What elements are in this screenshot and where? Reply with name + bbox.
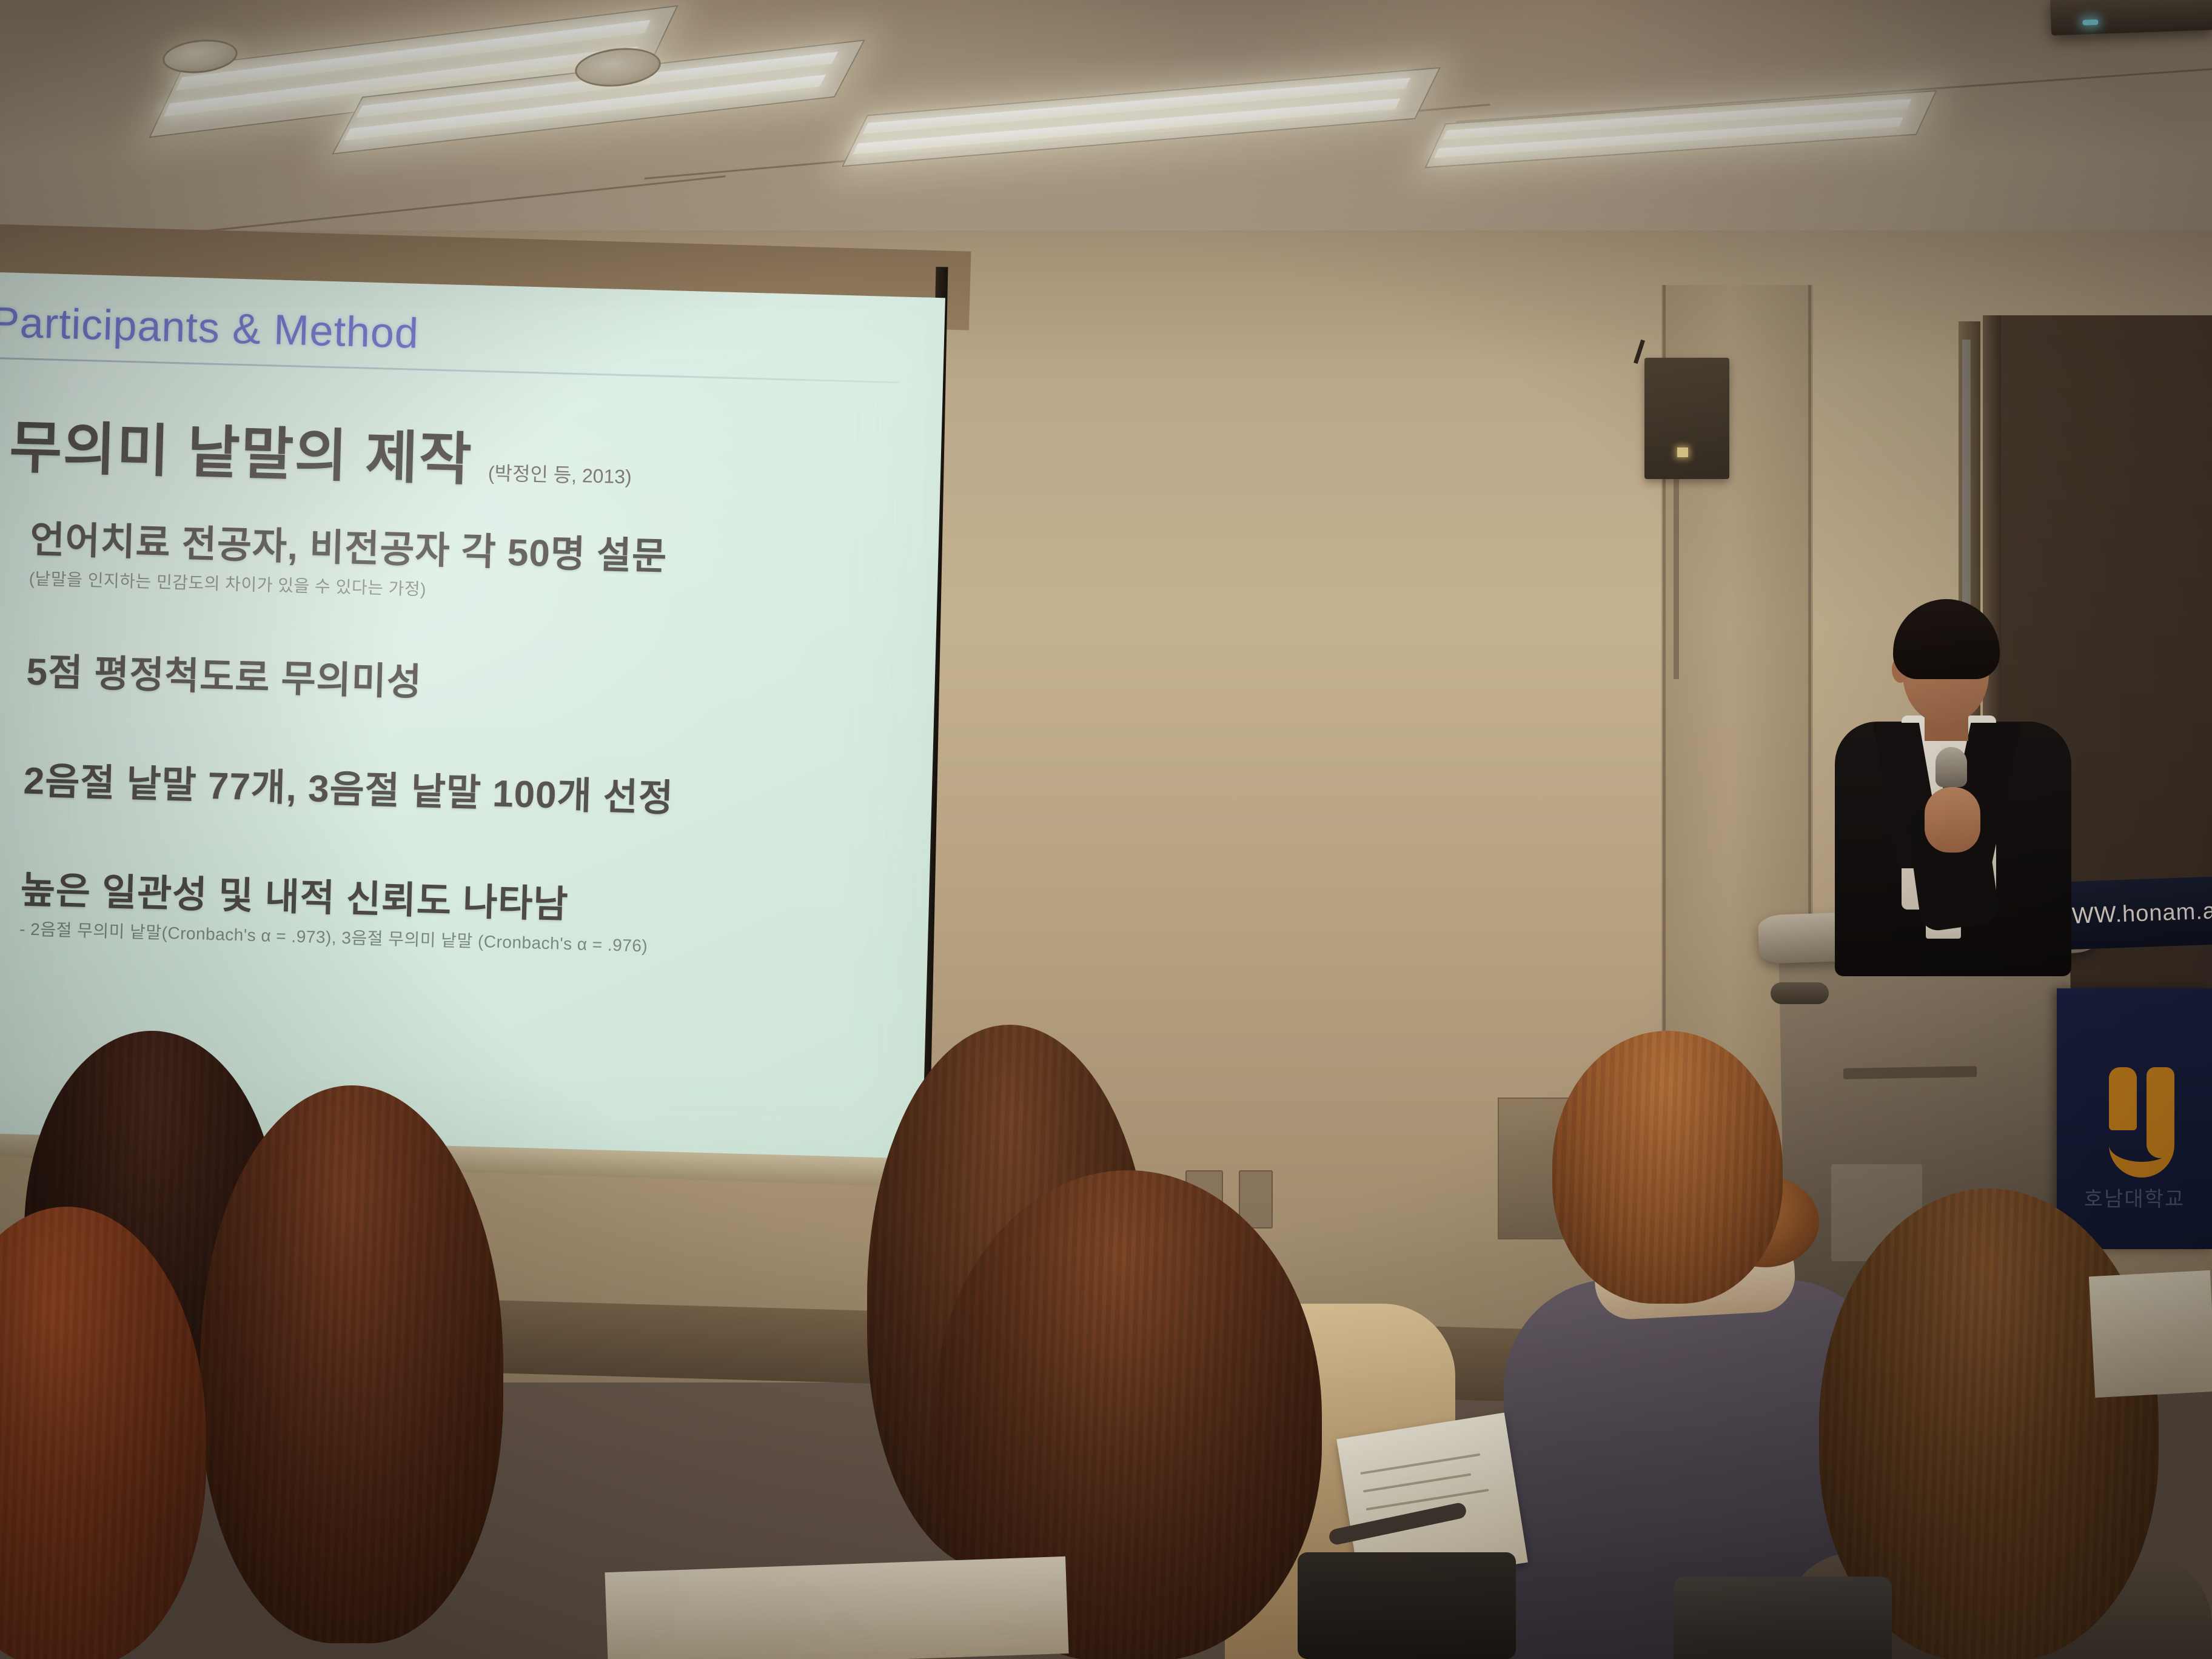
booklet-text-line — [1360, 1453, 1480, 1475]
projection-screen: Participants & Method 무의미 낱말의 제작 (박정인 등,… — [0, 272, 945, 1159]
slide-citation: (박정인 등, 2013) — [488, 458, 632, 500]
audience-head — [1552, 1031, 1783, 1304]
audience-head — [200, 1085, 503, 1643]
university-name: 호남대학교 — [2057, 1182, 2212, 1212]
logo-bowl — [2109, 1114, 2174, 1178]
university-banner: 호남대학교 — [2057, 988, 2212, 1249]
slide-header-title: Participants & Method — [0, 298, 420, 358]
lecture-room-photo: Participants & Method 무의미 낱말의 제작 (박정인 등,… — [0, 0, 2212, 1659]
presenter-hair — [1893, 599, 2000, 679]
presenter — [1795, 564, 2110, 988]
slide-bullet-list: 언어치료 전공자, 비전공자 각 50명 설문 (낱말을 인지하는 민감도의 차… — [19, 509, 891, 970]
hair-texture — [1552, 1031, 1783, 1304]
slide-main-title: 무의미 낱말의 제작 — [8, 401, 474, 497]
table-edge — [605, 1557, 1068, 1659]
projected-slide: Participants & Method 무의미 낱말의 제작 (박정인 등,… — [0, 272, 945, 1159]
chair-back — [1674, 1577, 1892, 1659]
slide-bullet: 언어치료 전공자, 비전공자 각 50명 설문 (낱말을 인지하는 민감도의 차… — [28, 509, 891, 613]
handbag — [1298, 1552, 1516, 1659]
open-book-logo-icon — [2109, 1067, 2182, 1164]
speaker-indicator-led-icon — [1677, 447, 1688, 457]
slide-header-rule — [0, 357, 899, 384]
microphone-head-icon — [1935, 747, 1967, 787]
wall-mounted-speaker — [1644, 358, 1729, 479]
booklet-text-line — [1366, 1489, 1489, 1510]
hair-texture — [200, 1085, 503, 1643]
booklet-text-line — [1363, 1473, 1471, 1492]
ceiling-projector — [2050, 0, 2212, 36]
slide-title-row: 무의미 낱말의 제작 (박정인 등, 2013) — [8, 401, 633, 501]
speaker-conduit — [1674, 479, 1679, 679]
presenter-hand — [1925, 787, 1980, 853]
podium-shelf — [1843, 1066, 1977, 1079]
projector-status-led-icon — [2082, 19, 2098, 25]
side-table — [2089, 1270, 2212, 1398]
